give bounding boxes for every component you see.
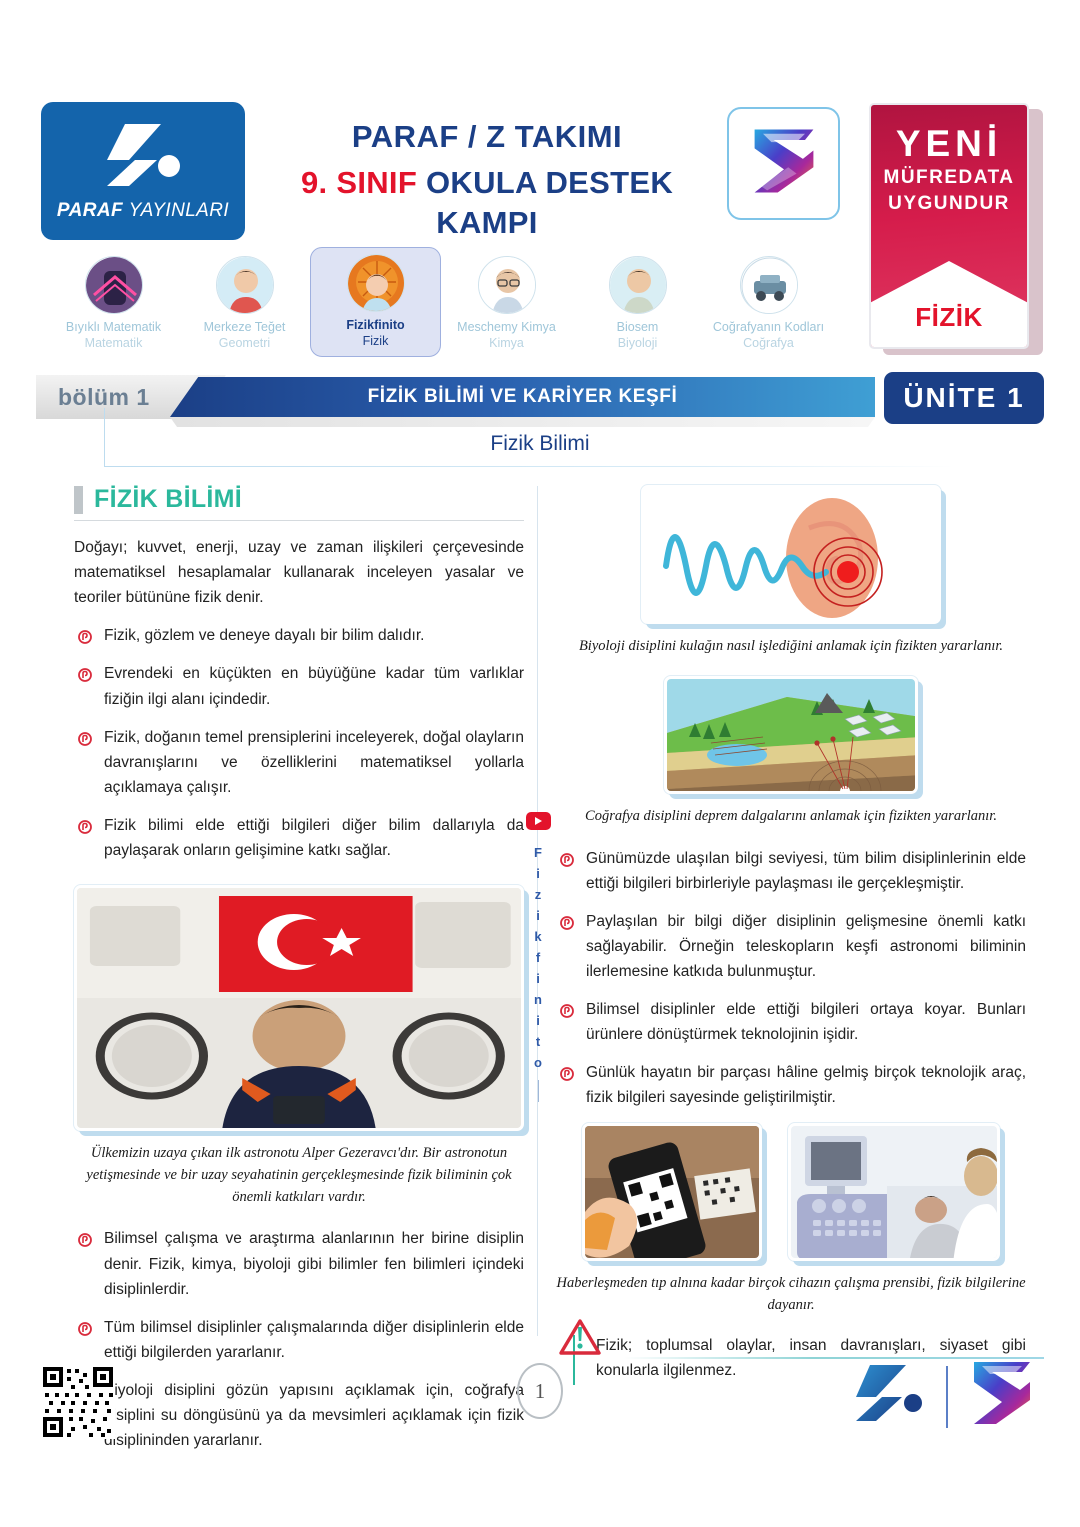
rail-letter: f <box>525 947 551 968</box>
title-campaign: OKULA DESTEK KAMPI <box>426 165 673 240</box>
ear-illustration <box>641 485 941 624</box>
teacher-name: Merkeze Teğet <box>179 319 310 335</box>
list-item: Bilimsel çalışma ve araştırma alanlarını… <box>74 1226 524 1301</box>
list-item-text: Fizik bilimi elde ettiği bilgileri diğer… <box>104 817 524 859</box>
earthquake-figure: Coğrafya disiplini deprem dalgalarını an… <box>556 676 1026 828</box>
earthquake-illustration <box>664 676 918 794</box>
right-column: Biyoloji disiplini kulağın nasıl işlediğ… <box>556 485 1026 1383</box>
rail-letter: i <box>525 863 551 884</box>
list-item-text: Evrendeki en küçükten en büyüğüne kadar … <box>104 665 524 707</box>
paraf-wordmark-light: YAYINLARI <box>129 200 229 221</box>
teacher-item-biosem[interactable]: Biosem Biyoloji <box>572 252 703 352</box>
teacher-item-fizikfinito[interactable]: Fizikfinito Fizik <box>310 247 441 357</box>
rail-letter: n <box>525 989 551 1010</box>
paraf-mark-icon <box>848 1363 928 1430</box>
technology-caption: Haberleşmeden tıp alnına kadar birçok ci… <box>556 1273 1026 1317</box>
list-item: Fizik bilimi elde ettiği bilgileri diğer… <box>74 813 524 863</box>
page-title: PARAF / Z TAKIMI 9. SINIF OKULA DESTEK K… <box>262 118 712 243</box>
rail-letter: o <box>525 1052 551 1073</box>
unit-number-box: ÜNİTE 1 <box>884 372 1044 424</box>
paraf-wordmark-bold: PARAF <box>57 200 123 221</box>
avatar <box>609 256 667 314</box>
unit-number-label: ÜNİTE 1 <box>903 382 1024 414</box>
bullet-icon <box>560 1064 574 1078</box>
right-bullet-list: Günümüzde ulaşılan bilgi seviyesi, tüm b… <box>556 846 1026 1111</box>
badge-headline: YENİ <box>871 125 1027 162</box>
unit-title: FİZİK BİLİMİ VE KARİYER KEŞFİ <box>368 386 678 408</box>
avatar <box>740 256 798 314</box>
bullet-icon <box>560 913 574 927</box>
teacher-name: Bıyıklı Matematik <box>48 319 179 335</box>
subtitle-row: Fizik Bilimi <box>0 432 1080 456</box>
title-grade: 9. SINIF <box>301 165 417 200</box>
unit-bar: bölüm 1 FİZİK BİLİMİ VE KARİYER KEŞFİ ÜN… <box>0 372 1080 428</box>
badge-body: YENİ MÜFREDATA UYGUNDUR FİZİK <box>869 103 1029 349</box>
list-item: Günlük hayatın bir parçası hâline gelmiş… <box>556 1060 1026 1110</box>
rail-letter: k <box>525 926 551 947</box>
rail-letter: t <box>525 1031 551 1052</box>
bullet-icon <box>78 817 92 831</box>
badge-subline-2: UYGUNDUR <box>871 193 1027 214</box>
paraf-yayinlari-logo: PARAF YAYINLARI <box>41 102 245 240</box>
astronaut-photo <box>74 885 524 1131</box>
paraf-mark-icon <box>95 120 191 194</box>
page-number: 1 <box>517 1363 563 1419</box>
list-item: Paylaşılan bir bilgi diğer disiplinin ge… <box>556 909 1026 984</box>
rail-letters: F i z i k f i n i t o <box>525 842 551 1074</box>
list-item: Bilimsel disiplinler elde ettiği bilgile… <box>556 997 1026 1047</box>
teacher-item-meschemy-kimya[interactable]: Meschemy Kimya Kimya <box>441 252 572 352</box>
teacher-name: Fizikfinito <box>311 317 440 333</box>
astronaut-figure: Ülkemizin uzaya çıkan ilk astronotu Alpe… <box>74 885 524 1208</box>
technology-figures: Haberleşmeden tıp alnına kadar birçok ci… <box>556 1123 1026 1317</box>
avatar <box>478 256 536 314</box>
badge-subline-1: MÜFREDATA <box>871 167 1027 188</box>
section-accent-bar <box>74 486 83 514</box>
astronaut-caption: Ülkemizin uzaya çıkan ilk astronotu Alpe… <box>74 1143 524 1208</box>
rail-tail-line <box>538 1080 539 1102</box>
fizikfinito-rail: F i z i k f i n i t o <box>525 812 551 1102</box>
textbook-page: PARAF YAYINLARI PARAF / Z TAKIMI 9. SINI… <box>0 0 1080 1527</box>
ear-figure: Biyoloji disiplini kulağın nasıl işlediğ… <box>556 485 1026 658</box>
bullet-icon <box>560 850 574 864</box>
footer-logos <box>848 1358 1038 1435</box>
bullet-icon <box>78 729 92 743</box>
title-line-2: 9. SINIF OKULA DESTEK KAMPI <box>262 163 712 244</box>
list-item-text: Paylaşılan bir bilgi diğer disiplinin ge… <box>586 913 1026 980</box>
teacher-subject: Coğrafya <box>703 335 834 351</box>
unit-title-strip: FİZİK BİLİMİ VE KARİYER KEŞFİ <box>170 377 875 417</box>
teacher-subject: Kimya <box>441 335 572 351</box>
badge-subject: FİZİK <box>871 302 1027 333</box>
rail-letter: i <box>525 1010 551 1031</box>
teacher-subject: Matematik <box>48 335 179 351</box>
page-header: PARAF YAYINLARI PARAF / Z TAKIMI 9. SINI… <box>0 0 1080 370</box>
section-rule <box>74 520 524 521</box>
list-item-text: Fizik, gözlem ve deneye dayalı bir bilim… <box>104 627 424 644</box>
qr-phone-photo <box>582 1123 762 1261</box>
list-item: Fizik, gözlem ve deneye dayalı bir bilim… <box>74 623 524 648</box>
z-takimi-logo-box <box>727 107 840 220</box>
avatar <box>216 256 274 314</box>
footer-logo-divider <box>946 1366 948 1428</box>
list-item-text: Bilimsel disiplinler elde ettiği bilgile… <box>586 1001 1026 1043</box>
youtube-icon[interactable] <box>526 812 551 830</box>
rail-letter: i <box>525 968 551 989</box>
teacher-list: Bıyıklı Matematik Matematik Merkeze Teğe… <box>48 252 858 364</box>
list-item-text: Günümüzde ulaşılan bilgi seviyesi, tüm b… <box>586 850 1026 892</box>
title-line-1: PARAF / Z TAKIMI <box>262 118 712 157</box>
rail-letter: F <box>525 842 551 863</box>
teacher-name: Coğrafyanın Kodları <box>703 319 834 335</box>
subtitle: Fizik Bilimi <box>490 432 589 455</box>
bullet-icon <box>78 665 92 679</box>
new-curriculum-badge: YENİ MÜFREDATA UYGUNDUR FİZİK <box>869 103 1036 355</box>
ultrasound-photo <box>788 1123 1000 1261</box>
z-takimi-logo-icon <box>742 119 826 208</box>
teacher-subject: Biyoloji <box>572 335 703 351</box>
subtitle-rule <box>104 466 954 467</box>
list-item: Günümüzde ulaşılan bilgi seviyesi, tüm b… <box>556 846 1026 896</box>
section-title: FİZİK BİLİMİ <box>94 485 242 514</box>
bullet-icon <box>560 1001 574 1015</box>
list-item-text: Fizik, doğanın temel prensiplerini incel… <box>104 729 524 796</box>
left-column: FİZİK BİLİMİ Doğayı; kuvvet, enerji, uza… <box>74 485 524 1466</box>
bullet-icon <box>78 1319 92 1333</box>
unit-strip-shadow <box>170 417 875 427</box>
earthquake-caption: Coğrafya disiplini deprem dalgalarını an… <box>556 806 1026 828</box>
teacher-name: Biosem <box>572 319 703 335</box>
teacher-item-biyikli-matematik[interactable]: Bıyıklı Matematik Matematik <box>48 252 179 352</box>
teacher-item-merkeze-teget[interactable]: Merkeze Teğet Geometri <box>179 252 310 352</box>
z-mark-icon <box>966 1358 1038 1435</box>
rail-letter: z <box>525 884 551 905</box>
bullet-icon <box>78 1230 92 1244</box>
rail-letter: i <box>525 905 551 926</box>
page-footer: 1 <box>0 1347 1080 1527</box>
left-bullet-list-1: Fizik, gözlem ve deneye dayalı bir bilim… <box>74 623 524 863</box>
teacher-item-cografyanin-kodlari[interactable]: Coğrafyanın Kodları Coğrafya <box>703 252 834 352</box>
list-item-text: Günlük hayatın bir parçası hâline gelmiş… <box>586 1064 1026 1106</box>
chapter-label: bölüm 1 <box>58 384 150 411</box>
list-item: Fizik, doğanın temel prensiplerini incel… <box>74 725 524 800</box>
section-header: FİZİK BİLİMİ <box>74 485 524 514</box>
list-item-text: Bilimsel çalışma ve araştırma alanlarını… <box>104 1230 524 1297</box>
teacher-name: Meschemy Kimya <box>441 319 572 335</box>
intro-paragraph: Doğayı; kuvvet, enerji, uzay ve zaman il… <box>74 535 524 610</box>
paraf-wordmark: PARAF YAYINLARI <box>57 200 229 222</box>
teacher-subject: Fizik <box>311 333 440 349</box>
avatar <box>85 256 143 314</box>
bullet-icon <box>78 627 92 641</box>
list-item: Evrendeki en küçükten en büyüğüne kadar … <box>74 661 524 711</box>
avatar <box>347 254 405 312</box>
ear-caption: Biyoloji disiplini kulağın nasıl işlediğ… <box>556 636 1026 658</box>
teacher-subject: Geometri <box>179 335 310 351</box>
